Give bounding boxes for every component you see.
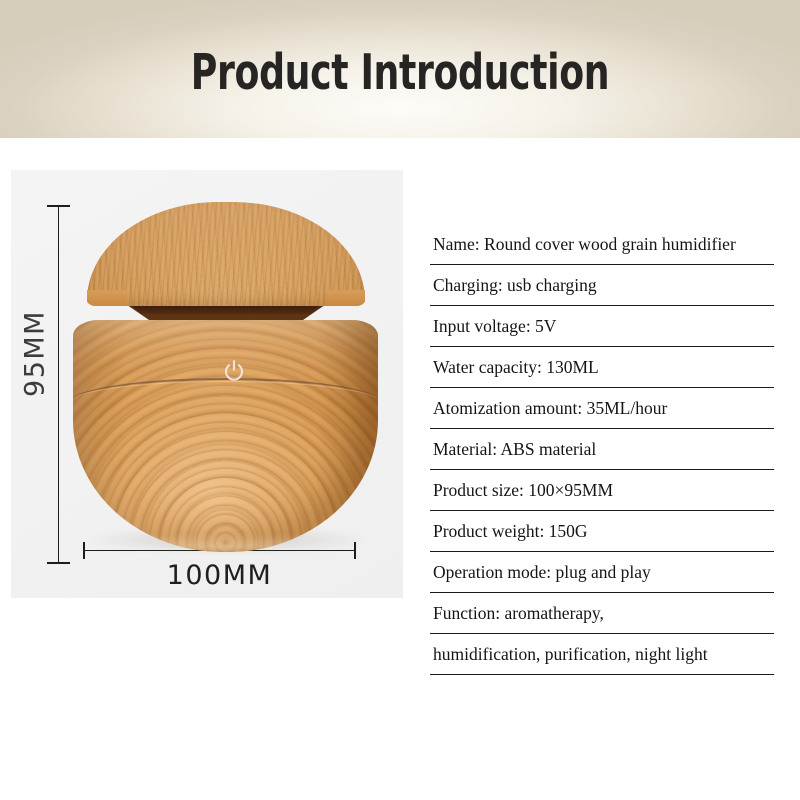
spec-row: Function: aromatherapy, <box>430 593 774 634</box>
height-dimension-cap-bottom <box>47 562 70 564</box>
humidifier-body-right-shading <box>316 320 378 552</box>
header-banner: Product Introduction <box>0 0 800 138</box>
spec-row: Water capacity: 130ML <box>430 347 774 388</box>
spec-row-text: Input voltage: 5V <box>430 316 556 337</box>
humidifier-lid-dome <box>87 202 365 306</box>
humidifier-lid-tip-left <box>87 290 127 306</box>
spec-row: Charging: usb charging <box>430 265 774 306</box>
specification-list: Name: Round cover wood grain humidifier … <box>430 224 774 675</box>
height-dimension-line <box>58 205 59 563</box>
power-icon <box>221 358 247 384</box>
spec-row-text: Operation mode: plug and play <box>430 562 651 583</box>
height-dimension-label: 95MM <box>20 294 51 414</box>
spec-row-text: Name: Round cover wood grain humidifier <box>430 234 736 255</box>
spec-row: Input voltage: 5V <box>430 306 774 347</box>
spec-row: Name: Round cover wood grain humidifier <box>430 224 774 265</box>
spec-row-text: Product weight: 150G <box>430 521 588 542</box>
spec-row-text: Charging: usb charging <box>430 275 597 296</box>
humidifier-body <box>73 320 378 552</box>
spec-row-text: Water capacity: 130ML <box>430 357 599 378</box>
humidifier-body-left-shading <box>73 320 127 552</box>
humidifier-product-image <box>73 202 378 557</box>
product-image-panel: 95MM 100MM <box>11 170 403 598</box>
spec-row-text: Function: aromatherapy, <box>430 603 604 624</box>
spec-row-text: Material: ABS material <box>430 439 596 460</box>
humidifier-lid-tip-right <box>325 290 365 306</box>
spec-row: Product size: 100×95MM <box>430 470 774 511</box>
spec-row-text: Product size: 100×95MM <box>430 480 613 501</box>
spec-row: Operation mode: plug and play <box>430 552 774 593</box>
spec-row-text: humidification, purification, night ligh… <box>430 644 708 665</box>
humidifier-lid <box>87 202 365 306</box>
page-title: Product Introduction <box>104 0 696 138</box>
humidifier-body-bottom-rim <box>101 534 351 550</box>
spec-row: Product weight: 150G <box>430 511 774 552</box>
width-dimension-label: 100MM <box>83 560 356 591</box>
spec-row: Atomization amount: 35ML/hour <box>430 388 774 429</box>
spec-row: humidification, purification, night ligh… <box>430 634 774 675</box>
spec-row-text: Atomization amount: 35ML/hour <box>430 398 667 419</box>
spec-row: Material: ABS material <box>430 429 774 470</box>
